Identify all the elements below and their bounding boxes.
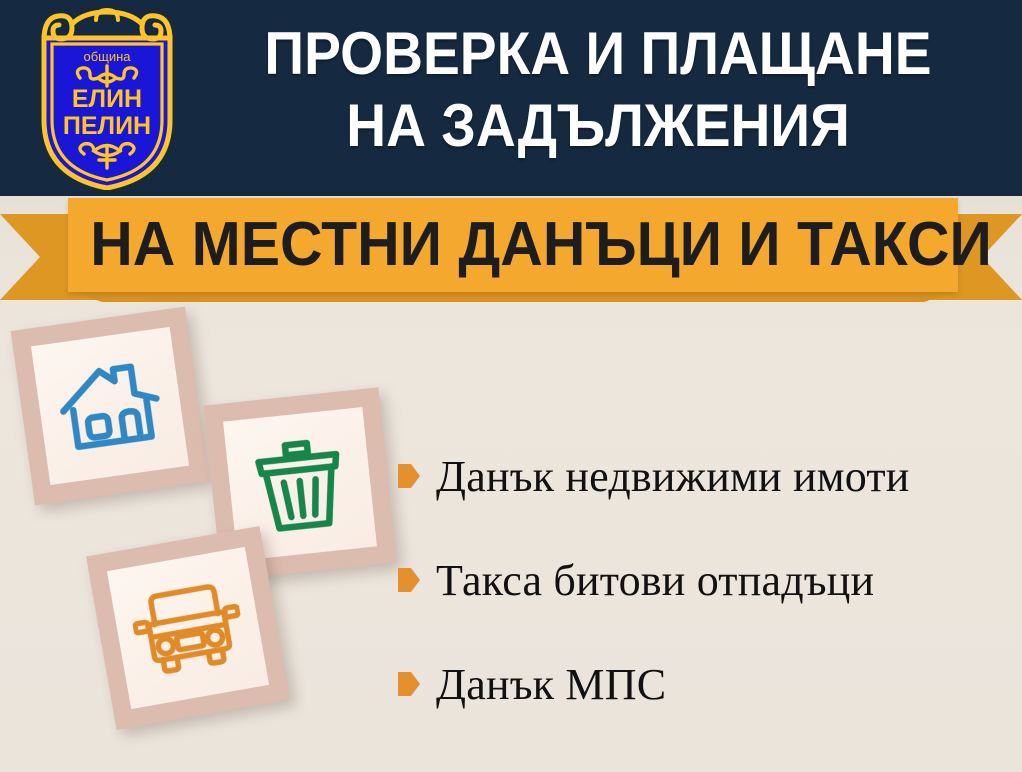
car-icon (107, 547, 269, 709)
ribbon-banner: НА МЕСТНИ ДАНЪЦИ И ТАКСИ (68, 198, 958, 292)
house-icon (31, 327, 189, 485)
list-item: Данък МПС (398, 632, 1008, 736)
stamp-card-vehicle (86, 526, 290, 730)
list-item: Такса битови отпадъци (398, 528, 1008, 632)
logo-text-obshtina: община (83, 49, 131, 64)
page-title-line-1: ПРОВЕРКА И ПЛАЩАНЕ (223, 18, 974, 90)
list-item-label: Данък недвижими имоти (436, 451, 910, 502)
page-title: ПРОВЕРКА И ПЛАЩАНЕ НА ЗАДЪЛЖЕНИЯ (223, 18, 974, 162)
logo-text-pelin: ПЕЛИН (63, 112, 151, 140)
list-item: Данък недвижими имоти (398, 424, 1008, 528)
logo-text-elin: ЕЛИН (72, 85, 142, 113)
bullet-arrow-icon (398, 568, 420, 592)
list-item-label: Такса битови отпадъци (436, 555, 874, 606)
poster-canvas: ПРОВЕРКА И ПЛАЩАНЕ НА ЗАДЪЛЖЕНИЯ община … (0, 0, 1022, 772)
stamp-card-property (11, 307, 210, 506)
bullet-arrow-icon (398, 464, 420, 488)
page-title-line-2: НА ЗАДЪЛЖЕНИЯ (223, 90, 974, 162)
bullet-arrow-icon (398, 672, 420, 696)
municipality-logo: община ЕЛИН ПЕЛИН (24, 8, 190, 190)
ribbon-label: НА МЕСТНИ ДАНЪЦИ И ТАКСИ (90, 198, 936, 292)
tax-type-list: Данък недвижими имоти Такса битови отпад… (398, 424, 1008, 736)
coat-of-arms-icon: община ЕЛИН ПЕЛИН (24, 8, 190, 190)
list-item-label: Данък МПС (436, 659, 666, 710)
